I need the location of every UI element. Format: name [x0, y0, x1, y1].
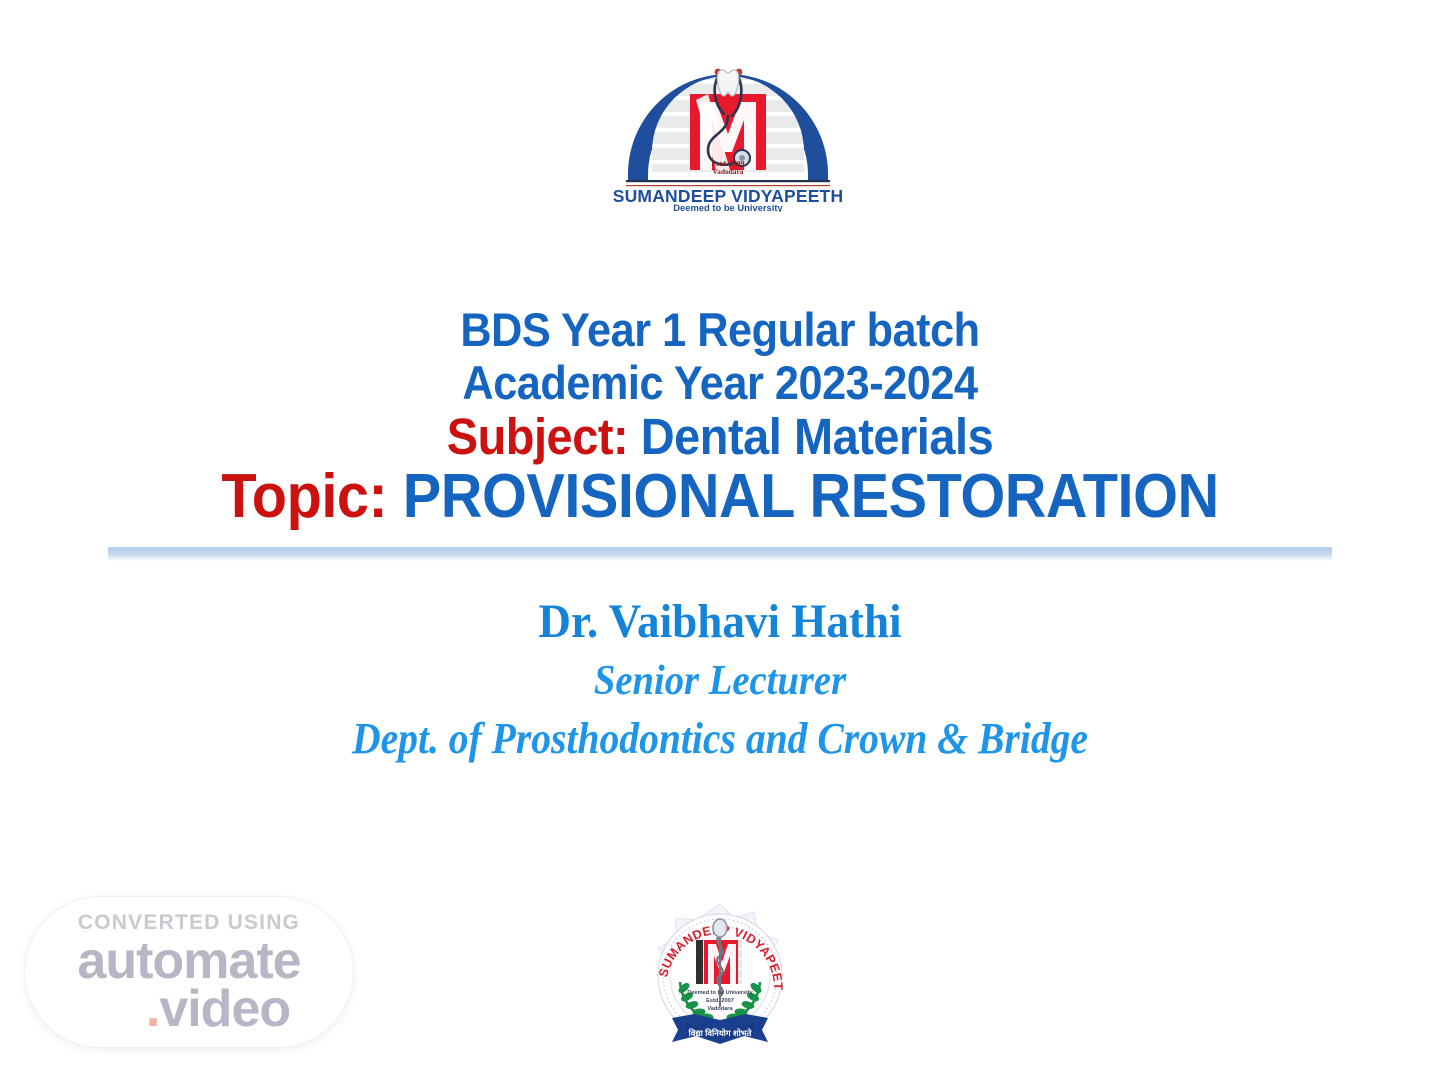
presenter-name: Dr. Vaibhavi Hathi [43, 598, 1397, 646]
logo-tooth-icon [717, 70, 739, 96]
seal-line-1: Deemed to be University [687, 990, 753, 996]
university-seal-bottom: SUMANDEEP VIDYAPEETH [646, 896, 794, 1056]
watermark-suffix: video [159, 980, 290, 1038]
section-divider [108, 547, 1332, 561]
presenter-department: Dept. of Prosthodontics and Crown & Brid… [72, 717, 1368, 761]
divider-glow [108, 556, 1332, 561]
watermark-badge: CONVERTED USING automate .video [24, 896, 354, 1048]
topic-label: Topic: [221, 462, 387, 531]
watermark-dot: . [146, 980, 159, 1038]
page-title-line-topic: Topic: PROVISIONAL RESTORATION [50, 466, 1389, 528]
presenter-block: Dr. Vaibhavi Hathi Senior Lecturer Dept.… [0, 598, 1440, 761]
page-title-line-subject: Subject: Dental Materials [58, 411, 1383, 462]
seal-line-2: Estd. 2007 [706, 998, 734, 1004]
institution-logo-top: K.M. SHAH DENTAL COLLEGE & HOSPITAL Estd… [612, 22, 844, 212]
slide-title-block: BDS Year 1 Regular batch Academic Year 2… [0, 306, 1440, 528]
presenter-role: Senior Lecturer [58, 660, 1383, 702]
page-title-line-academic-year: Academic Year 2023-2024 [58, 359, 1383, 406]
seal-line-3: Vadodara [707, 1006, 733, 1012]
topic-value: PROVISIONAL RESTORATION [403, 462, 1219, 531]
logo-city: Vadodara [713, 167, 744, 176]
logo-university-tagline: Deemed to be University [673, 202, 783, 212]
logo-rule-top [626, 180, 830, 182]
divider-bar [108, 547, 1332, 556]
subject-label: Subject: [447, 408, 628, 465]
subject-value: Dental Materials [641, 408, 994, 465]
page-title-line-batch: BDS Year 1 Regular batch [58, 306, 1383, 353]
seal-banner-text: विद्या विनियोग शोभते [688, 1028, 753, 1038]
watermark-suffix-row: .video [25, 983, 353, 1035]
